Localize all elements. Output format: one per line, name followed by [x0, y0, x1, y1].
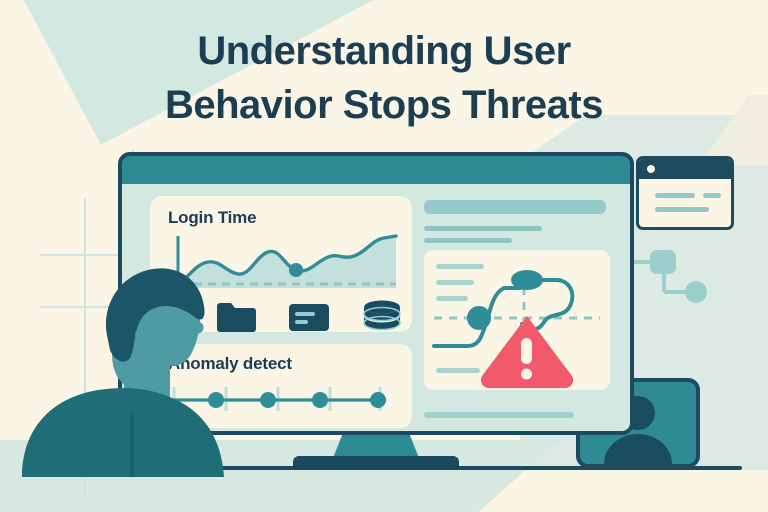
monitor-base: [293, 456, 459, 470]
monitor-titlebar: [122, 156, 630, 184]
window-titlebar: [639, 159, 731, 179]
window-text-line: [703, 193, 721, 198]
headline-line-1: Understanding User: [0, 24, 768, 78]
illustration-canvas: Understanding User Behavior Stops Threat…: [0, 0, 768, 512]
card-text-line: [436, 280, 474, 285]
report-text-line: [424, 226, 542, 231]
browser-window-mock[interactable]: [636, 156, 734, 230]
window-dot-icon: [647, 165, 655, 173]
timeline-marker: [370, 392, 386, 408]
warning-triangle-icon: [481, 316, 573, 388]
credit-card-icon[interactable]: [288, 303, 330, 337]
report-text-line: [424, 238, 512, 243]
report-heading-bar: [424, 200, 606, 214]
card-text-line: [436, 368, 480, 373]
threat-path-card[interactable]: [424, 250, 610, 390]
timeline-marker: [312, 392, 328, 408]
window-text-line: [655, 207, 709, 212]
path-node: [511, 270, 543, 290]
timeline-marker: [260, 392, 276, 408]
card-text-line: [436, 264, 484, 269]
headline-line-2: Behavior Stops Threats: [0, 78, 768, 132]
report-footer-line: [424, 412, 574, 418]
database-icon[interactable]: [362, 300, 402, 338]
person-viewing-monitor: [20, 262, 250, 482]
login-time-title: Login Time: [168, 208, 256, 228]
page-title: Understanding User Behavior Stops Threat…: [0, 24, 768, 132]
chart-highlight-point: [289, 263, 303, 277]
card-text-line: [436, 296, 468, 301]
window-text-line: [655, 193, 695, 198]
path-node: [467, 306, 491, 330]
